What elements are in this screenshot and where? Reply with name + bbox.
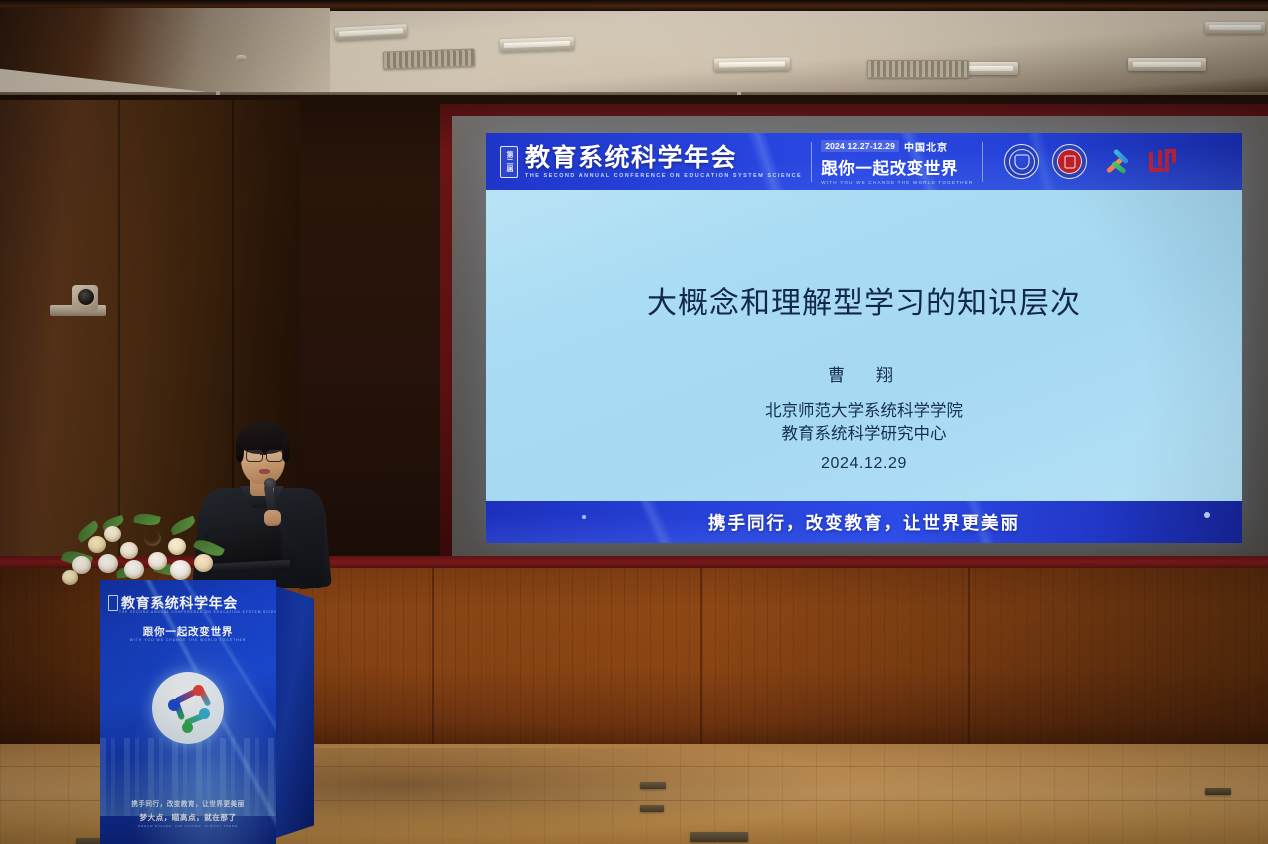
conference-title-cn: 教育系统科学年会 <box>525 144 802 171</box>
podium-bottom-line-en: DREAM BIGGER, AIM HIGHER, ALMOST THERE <box>100 824 276 828</box>
conference-city: 中国北京 <box>904 139 948 154</box>
slide-speaker-name: 曹 翔 <box>486 361 1242 386</box>
podium-bottom-line-1: 携手同行，改变教育，让世界更美丽 <box>100 798 276 808</box>
floor-outlet-plate <box>1205 788 1231 795</box>
wall-seam <box>118 100 120 570</box>
podium: 教育系统科学年会 THE SECOND ANNUAL CONFERENCE ON… <box>100 580 314 844</box>
ceiling-light <box>1205 22 1265 34</box>
projected-slide: 第二届 教育系统科学年会 THE SECOND ANNUAL CONFERENC… <box>486 133 1242 543</box>
podium-conference-title-en: THE SECOND ANNUAL CONFERENCE ON EDUCATIO… <box>119 610 276 614</box>
wood-wall-seam <box>968 568 970 748</box>
floor-outlet-plate <box>640 805 664 812</box>
podium-side-panel <box>276 586 314 838</box>
floor-outlet-plate <box>640 782 666 789</box>
podium-edition-badge <box>108 595 118 611</box>
podium-front-panel: 教育系统科学年会 THE SECOND ANNUAL CONFERENCE ON… <box>100 580 276 844</box>
edition-badge-label: 第二届 <box>505 151 513 172</box>
organization-logos <box>1004 144 1179 179</box>
podium-slogan-en: WITH YOU WE CHANGE THE WORLD TOGETHER <box>100 638 276 642</box>
conference-photo-scene: 第二届 教育系统科学年会 THE SECOND ANNUAL CONFERENC… <box>0 0 1268 844</box>
banner-divider <box>982 142 983 182</box>
conference-slogan-cn: 跟你一起改变世界 <box>821 155 973 179</box>
conference-slogan-en: WITH YOU WE CHANGE THE WORLD TOGETHER <box>821 180 973 185</box>
microphone-head-icon <box>264 478 276 489</box>
conference-date-range: 2024 12.27-12.29 <box>821 140 899 152</box>
ceiling <box>0 0 1268 100</box>
smoke-detector <box>236 55 247 61</box>
conference-title-block: 教育系统科学年会 THE SECOND ANNUAL CONFERENCE ON… <box>525 144 802 179</box>
slide-banner: 第二届 教育系统科学年会 THE SECOND ANNUAL CONFERENC… <box>486 133 1242 190</box>
podium-slogan-cn: 跟你一起改变世界 <box>100 624 276 639</box>
glasses-icon <box>246 450 263 462</box>
ceiling-light <box>500 37 574 53</box>
camera-lens-icon <box>77 288 95 306</box>
slide-date: 2024.12.29 <box>486 455 1242 473</box>
podium-bottom-line-2: 梦大点，瞄高点，就在那了 <box>100 812 276 823</box>
conference-network-logo-icon <box>152 672 224 744</box>
banner-divider <box>811 142 812 182</box>
university-seal-icon <box>1004 144 1039 179</box>
affiliation-line-1: 北京师范大学系统科学学院 <box>486 399 1242 422</box>
ceiling-light <box>714 57 790 71</box>
presenter-hair-side <box>236 436 244 462</box>
slide-footer: 携手同行，改变教育，让世界更美丽 <box>486 501 1242 543</box>
affiliation-line-2: 教育系统科学研究中心 <box>486 422 1242 445</box>
edition-badge: 第二届 <box>500 146 518 178</box>
wood-wall-seam <box>700 568 702 748</box>
slide-background <box>486 133 1242 543</box>
presenter-hair-side <box>282 436 290 462</box>
slide-title: 大概念和理解型学习的知识层次 <box>486 278 1242 322</box>
presenter-hand <box>264 510 281 526</box>
conference-info-block: 2024 12.27-12.29 中国北京 跟你一起改变世界 WITH YOU … <box>821 139 973 185</box>
ceiling-light <box>1128 58 1206 71</box>
swoosh-logo-icon <box>1100 145 1133 178</box>
presenter-hair <box>238 422 288 454</box>
podium-floor-shadow <box>250 748 870 840</box>
conference-title-en: THE SECOND ANNUAL CONFERENCE ON EDUCATIO… <box>525 173 802 179</box>
wood-wall-seam <box>432 568 434 748</box>
ceiling-vent <box>383 48 476 69</box>
glasses-icon <box>266 450 283 462</box>
ceiling-vent <box>867 60 969 78</box>
red-seal-icon <box>1052 144 1087 179</box>
wordmark-logo-icon <box>1146 145 1179 178</box>
glasses-bridge <box>260 454 267 455</box>
presenter-mouth <box>259 469 270 474</box>
ptz-camera <box>50 283 106 319</box>
floor-outlet-plate <box>690 832 748 842</box>
footer-slogan: 携手同行，改变教育，让世界更美丽 <box>486 501 1242 543</box>
slide-affiliation: 北京师范大学系统科学学院 教育系统科学研究中心 <box>486 399 1242 445</box>
